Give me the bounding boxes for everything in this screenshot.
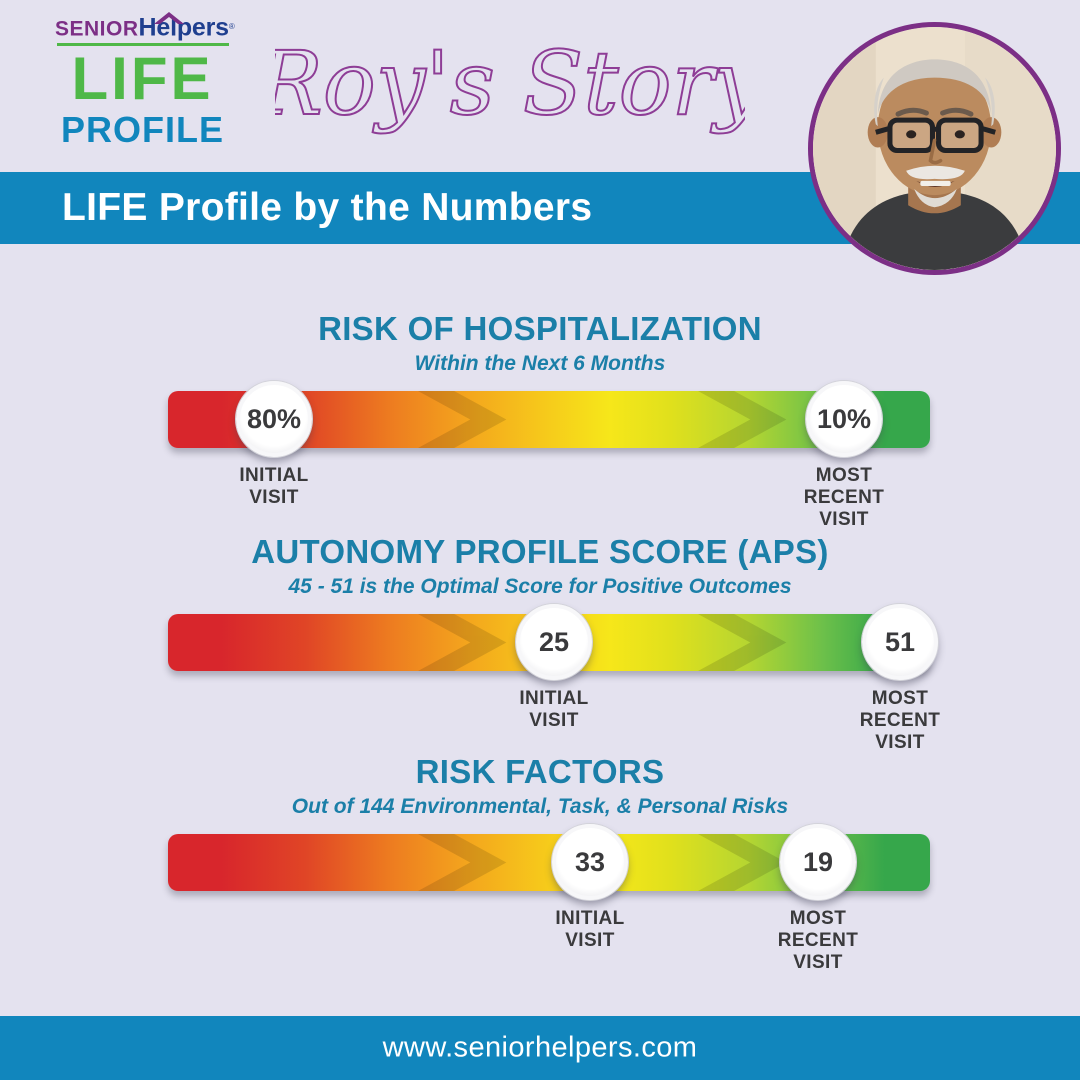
label-line: INITIAL [505, 908, 675, 930]
metric-title: AUTONOMY PROFILE SCORE (APS) [0, 533, 1080, 571]
label-line: MOST [815, 688, 985, 710]
marker-label-most-recent-visit: MOST RECENT VISIT [733, 908, 903, 974]
label-line: VISIT [189, 487, 359, 509]
marker-initial-visit[interactable]: 33 [552, 824, 628, 900]
label-line: VISIT [815, 732, 985, 754]
label-line: VISIT [505, 930, 675, 952]
label-line: RECENT [759, 487, 929, 509]
story-title-text: Roy's Story [275, 32, 745, 135]
metric-subtitle: Within the Next 6 Months [0, 351, 1080, 377]
infographic-page: SENIORHelpers® LIFE PROFILE Roy's Story [0, 0, 1080, 1080]
footer-website-url[interactable]: www.seniorhelpers.com [0, 1032, 1080, 1065]
marker-initial-visit[interactable]: 25 [516, 604, 592, 680]
house-roof-icon [152, 11, 186, 25]
label-line: INITIAL [189, 465, 359, 487]
metric-subtitle: 45 - 51 is the Optimal Score for Positiv… [0, 574, 1080, 600]
metric-subtitle: Out of 144 Environmental, Task, & Person… [0, 794, 1080, 820]
marker-label-most-recent-visit: MOST RECENT VISIT [759, 465, 929, 531]
metric-section-autonomy-profile-score: AUTONOMY PROFILE SCORE (APS) 45 - 51 is … [0, 533, 1080, 754]
story-title-script: Roy's Story [275, 18, 745, 148]
logo-trademark: ® [229, 22, 235, 31]
metric-section-risk-of-hospitalization: RISK OF HOSPITALIZATION Within the Next … [0, 310, 1080, 531]
chevron-arrow-icon [698, 614, 793, 671]
chevron-arrow-icon [698, 391, 793, 448]
logo-wordmark-top: SENIORHelpers® [55, 14, 230, 40]
logo-senior-text: SENIOR [55, 17, 139, 40]
senior-helpers-life-profile-logo: SENIORHelpers® LIFE PROFILE [55, 14, 230, 150]
marker-most-recent-visit[interactable]: 10% [806, 381, 882, 457]
banner-title: LIFE Profile by the Numbers [62, 186, 592, 230]
marker-label-initial-visit: INITIAL VISIT [469, 688, 639, 732]
label-line: RECENT [815, 710, 985, 732]
logo-profile-text: PROFILE [55, 110, 230, 150]
marker-label-initial-visit: INITIAL VISIT [189, 465, 359, 509]
chevron-arrow-icon [698, 834, 793, 891]
chevron-arrow-icon [418, 614, 513, 671]
gauge-bar-wrap: 33 INITIAL VISIT 19 MOST RECENT VISIT [0, 834, 1080, 974]
metric-section-risk-factors: RISK FACTORS Out of 144 Environmental, T… [0, 753, 1080, 974]
marker-initial-visit[interactable]: 80% [236, 381, 312, 457]
footer: www.seniorhelpers.com [0, 1016, 1080, 1080]
label-line: INITIAL [469, 688, 639, 710]
label-line: MOST [733, 908, 903, 930]
marker-most-recent-visit[interactable]: 19 [780, 824, 856, 900]
label-line: VISIT [733, 952, 903, 974]
label-line: MOST [759, 465, 929, 487]
marker-label-initial-visit: INITIAL VISIT [505, 908, 675, 952]
gauge-bar-wrap: 80% INITIAL VISIT 10% MOST RECENT VISIT [0, 391, 1080, 531]
portrait-photo [813, 27, 1056, 270]
metric-title: RISK FACTORS [0, 753, 1080, 791]
label-line: VISIT [759, 509, 929, 531]
portrait-avatar [808, 22, 1061, 275]
label-line: VISIT [469, 710, 639, 732]
chevron-arrow-icon [418, 391, 513, 448]
label-line: RECENT [733, 930, 903, 952]
marker-label-most-recent-visit: MOST RECENT VISIT [815, 688, 985, 754]
chevron-arrow-icon [418, 834, 513, 891]
gauge-bar-wrap: 25 INITIAL VISIT 51 MOST RECENT VISIT [0, 614, 1080, 754]
logo-life-text: LIFE [55, 48, 230, 110]
marker-most-recent-visit[interactable]: 51 [862, 604, 938, 680]
metric-title: RISK OF HOSPITALIZATION [0, 310, 1080, 348]
